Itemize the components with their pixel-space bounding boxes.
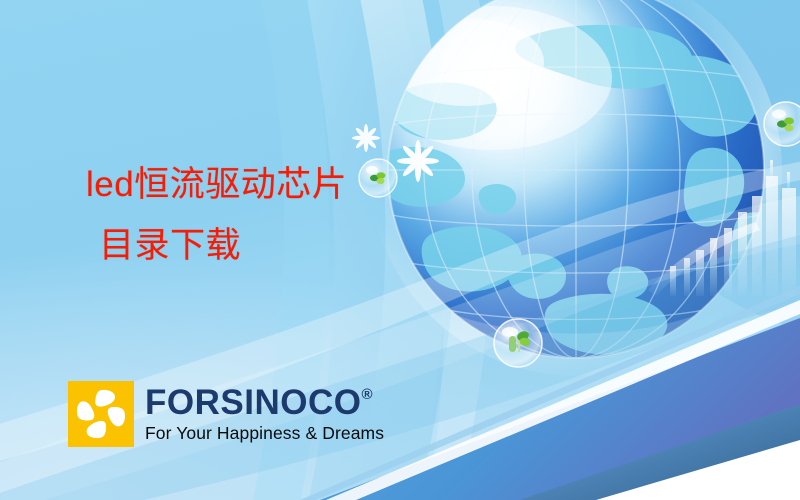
banner-title: led恒流驱动芯片 目录下载 xyxy=(86,163,416,267)
brand-name-text: FORSINOCO xyxy=(145,385,361,420)
brand-tagline: For Your Happiness & Dreams xyxy=(145,423,384,443)
brand-name: FORSINOCO ® xyxy=(145,385,384,420)
bubble-green-sprout xyxy=(494,319,542,367)
registered-trademark-icon: ® xyxy=(361,387,373,402)
logo-wordmark: FORSINOCO ® For Your Happiness & Dreams xyxy=(145,385,384,443)
title-line-1: led恒流驱动芯片 xyxy=(86,163,416,206)
title-line-2: 目录下载 xyxy=(86,224,416,267)
four-petal-pinwheel-logomark xyxy=(68,381,134,447)
company-logo[interactable]: FORSINOCO ® For Your Happiness & Dreams xyxy=(68,381,384,447)
sparkle-flower-small xyxy=(352,124,380,152)
banner-image: led恒流驱动芯片 目录下载 FORSINOCO ® For Your Happ… xyxy=(0,0,800,500)
bubble-edge-right xyxy=(764,102,800,146)
